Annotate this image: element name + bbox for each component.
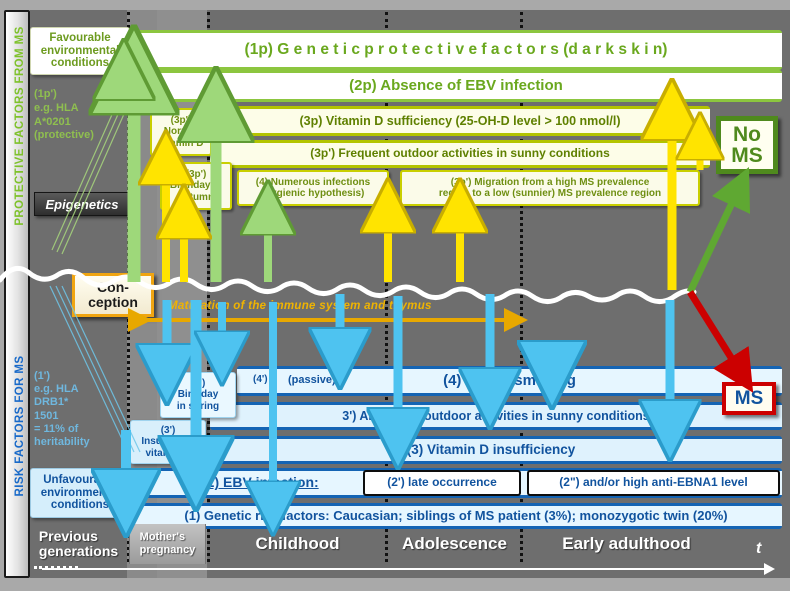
era-childhood: Childhood bbox=[210, 524, 385, 564]
band-absence-ebv[interactable]: (2p) Absence of EBV infection bbox=[130, 70, 782, 102]
label-passive-smoking: (passive)? bbox=[288, 374, 342, 386]
diagram-canvas: PROTECTIVE FACTORS FROM MS RISK FACTORS … bbox=[0, 0, 790, 591]
time-axis-arrowhead bbox=[764, 563, 775, 575]
box-numerous-infections[interactable]: (4) Numerous infections (hygienic hypoth… bbox=[237, 170, 389, 206]
era-adolescence: Adolescence bbox=[387, 524, 522, 564]
box-unfavourable-conditions[interactable]: Unfavourable environmental conditions bbox=[30, 468, 130, 518]
era-previous-generations: Previous generations bbox=[30, 524, 127, 564]
label-passive-smoking-tag: (4') bbox=[253, 374, 268, 385]
timeline: Previous generations Mother's pregnancy … bbox=[30, 524, 782, 570]
box-favourable-conditions[interactable]: Favourable environmental conditions bbox=[30, 27, 130, 75]
background-top-strip bbox=[0, 0, 790, 10]
note-risk-genotype: (1') e.g. HLA DRB1* 1501 = 11% of herita… bbox=[34, 370, 134, 449]
band-ebv-infection-label: (2) EBV infection: bbox=[202, 475, 319, 491]
era-mothers-pregnancy: Mother's pregnancy bbox=[129, 524, 206, 564]
box-high-ebna1[interactable]: (2") and/or high anti-EBNA1 level bbox=[527, 470, 780, 496]
box-birthday-spring[interactable]: (3') Birthday in spring bbox=[160, 372, 236, 418]
box-birthday-autumn[interactable]: (3p') Birthday in autumn bbox=[160, 162, 232, 210]
box-conception[interactable]: Con- ception bbox=[72, 273, 154, 317]
band-vitamin-d-sufficiency[interactable]: (3p) Vitamin D sufficiency (25-OH-D leve… bbox=[210, 106, 710, 136]
box-late-occurrence[interactable]: (2') late occurrence bbox=[363, 470, 521, 496]
axis-label-risk: RISK FACTORS FOR MS bbox=[14, 306, 26, 546]
note-protective-genotype: (1p') e.g. HLA A*0201 (protective) bbox=[34, 88, 134, 143]
band-genetic-protective-factors[interactable]: (1p) G e n e t i c p r o t e c t i v e f… bbox=[130, 30, 782, 70]
box-insufficient-vitamin-d[interactable]: (3') Insufficient vitamin D bbox=[130, 420, 206, 464]
era-early-adulthood: Early adulthood bbox=[524, 524, 729, 564]
box-no-ms[interactable]: No MS bbox=[716, 116, 778, 174]
label-epigenetics: Epigenetics bbox=[34, 192, 130, 216]
time-axis-line bbox=[42, 568, 768, 570]
band-no-outdoor-activities[interactable]: 3') Almost no outdoor activities in sunn… bbox=[210, 402, 782, 430]
background-bottom-strip bbox=[0, 578, 790, 591]
time-axis-dotted-start bbox=[34, 566, 78, 569]
time-axis-label: t bbox=[756, 540, 761, 558]
box-normal-vitamin-d[interactable]: (3p') Normal vitamin D bbox=[150, 108, 212, 156]
band-frequent-outdoor[interactable]: (3p') Frequent outdoor activities in sun… bbox=[210, 140, 710, 168]
band-vitamin-d-insufficiency[interactable]: (3) Vitamin D insufficiency bbox=[200, 436, 782, 464]
axis-label-protective: PROTECTIVE FACTORS FROM MS bbox=[14, 6, 26, 246]
label-maturation: Maturation of the immune system and thym… bbox=[168, 300, 528, 312]
box-ms[interactable]: MS bbox=[722, 382, 776, 415]
box-migration[interactable]: (3p') Migration from a high MS prevalenc… bbox=[400, 170, 700, 206]
